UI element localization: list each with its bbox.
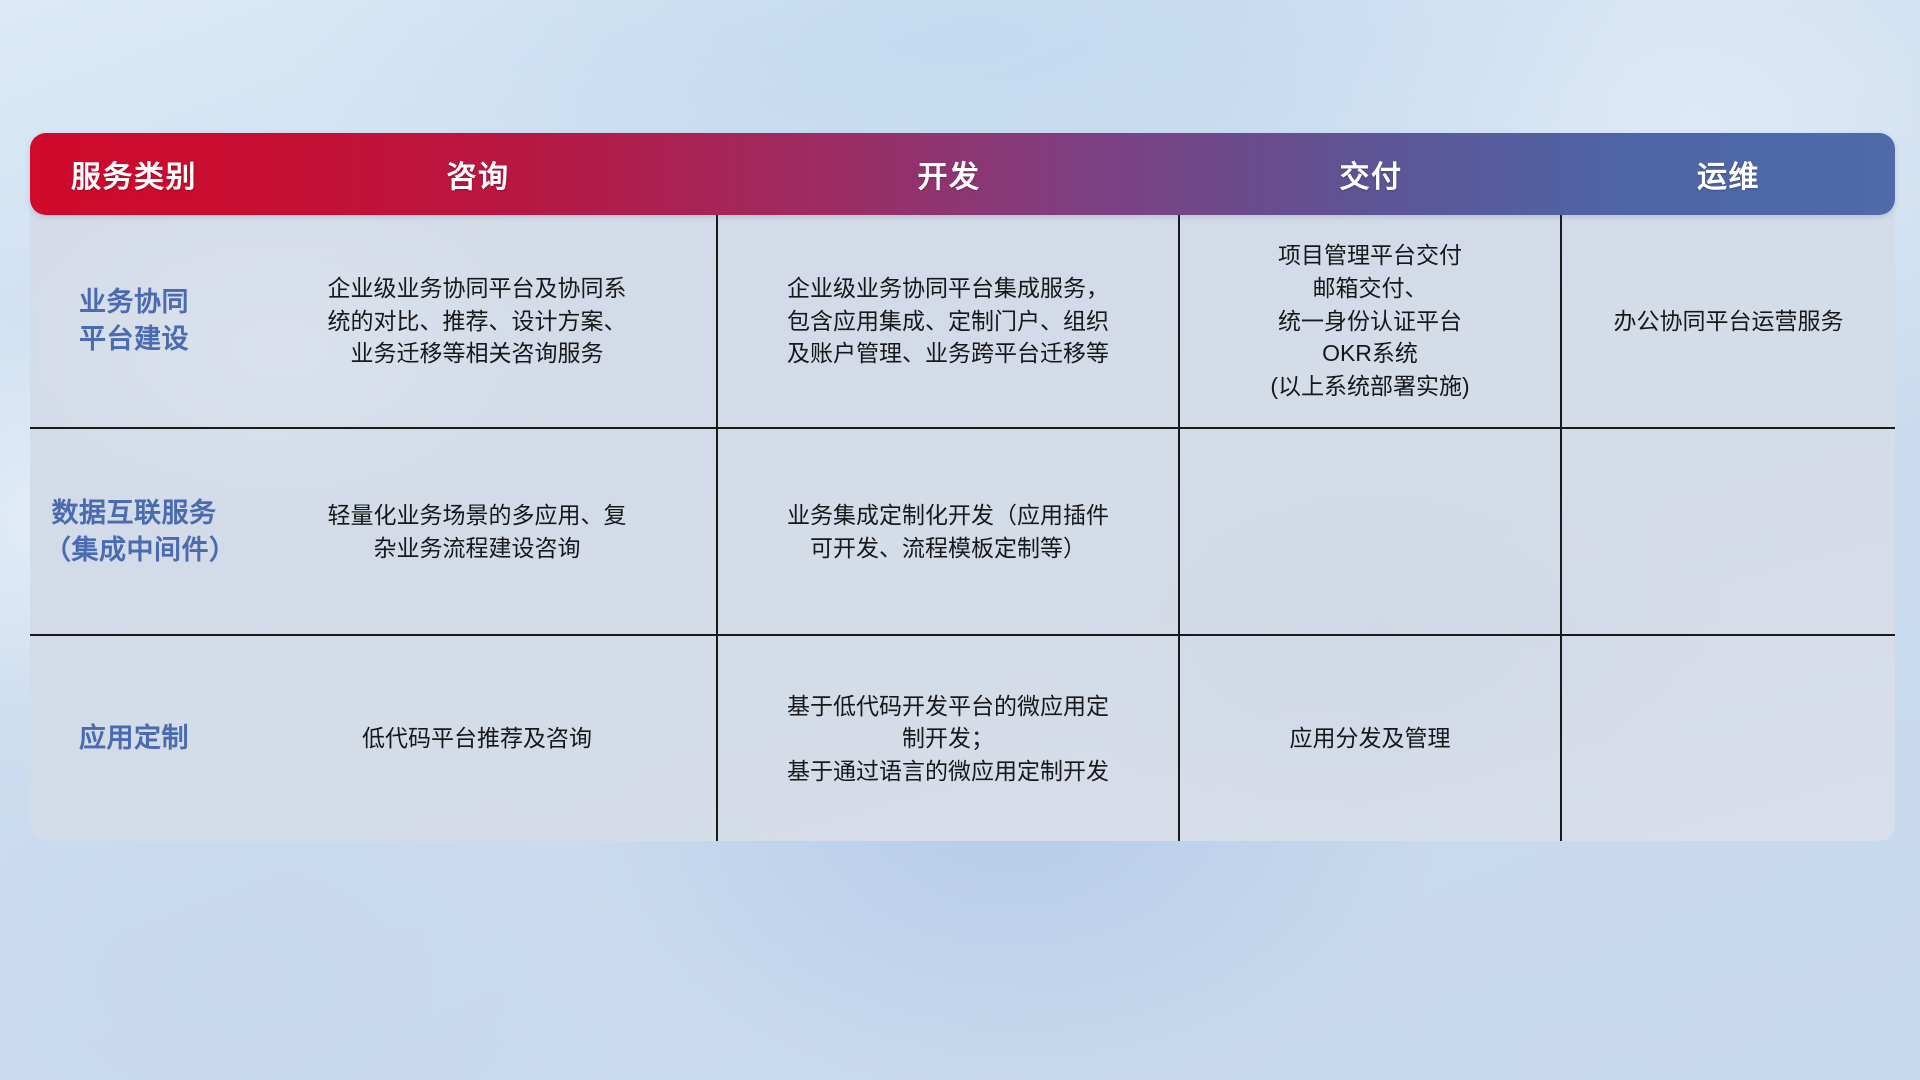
cell-consulting: 轻量化业务场景的多应用、复 杂业务流程建设咨询	[238, 429, 718, 634]
slide-canvas: 服务类别 咨询 开发 交付 运维 业务协同 平台建设 企业级业务协同平台及协同系…	[0, 0, 1920, 1080]
cell-delivery: 项目管理平台交付 邮箱交付、 统一身份认证平台 OKR系统 (以上系统部署实施)	[1180, 215, 1562, 427]
table-row: 数据互联服务 （集成中间件） 轻量化业务场景的多应用、复 杂业务流程建设咨询 业…	[30, 427, 1895, 634]
column-header-consulting: 咨询	[238, 152, 718, 196]
cell-development: 企业级业务协同平台集成服务， 包含应用集成、定制门户、组织 及账户管理、业务跨平…	[718, 215, 1180, 427]
cell-operations: 办公协同平台运营服务	[1562, 215, 1895, 427]
cell-operations	[1562, 636, 1895, 841]
column-header-development: 开发	[718, 152, 1180, 196]
cell-consulting: 低代码平台推荐及咨询	[238, 636, 718, 841]
cell-development: 基于低代码开发平台的微应用定 制开发； 基于通过语言的微应用定制开发	[718, 636, 1180, 841]
row-category-label: 数据互联服务 （集成中间件）	[44, 495, 224, 568]
column-header-delivery: 交付	[1180, 152, 1562, 196]
column-header-category: 服务类别	[30, 152, 238, 196]
cell-consulting: 企业级业务协同平台及协同系 统的对比、推荐、设计方案、 业务迁移等相关咨询服务	[238, 215, 718, 427]
cell-delivery	[1180, 429, 1562, 634]
row-category-cell: 应用定制	[30, 636, 238, 841]
cell-delivery: 应用分发及管理	[1180, 636, 1562, 841]
table-row: 应用定制 低代码平台推荐及咨询 基于低代码开发平台的微应用定 制开发； 基于通过…	[30, 634, 1895, 841]
table-header-row: 服务类别 咨询 开发 交付 运维	[30, 133, 1895, 215]
service-matrix-table: 服务类别 咨询 开发 交付 运维 业务协同 平台建设 企业级业务协同平台及协同系…	[30, 133, 1895, 841]
table-row: 业务协同 平台建设 企业级业务协同平台及协同系 统的对比、推荐、设计方案、 业务…	[30, 215, 1895, 427]
row-category-label: 应用定制	[79, 720, 189, 757]
row-category-cell: 业务协同 平台建设	[30, 215, 238, 427]
row-category-cell: 数据互联服务 （集成中间件）	[30, 429, 238, 634]
column-header-operations: 运维	[1562, 152, 1895, 196]
cell-development: 业务集成定制化开发（应用插件 可开发、流程模板定制等）	[718, 429, 1180, 634]
cell-operations	[1562, 429, 1895, 634]
table-body: 业务协同 平台建设 企业级业务协同平台及协同系 统的对比、推荐、设计方案、 业务…	[30, 209, 1895, 841]
row-category-label: 业务协同 平台建设	[79, 284, 189, 357]
